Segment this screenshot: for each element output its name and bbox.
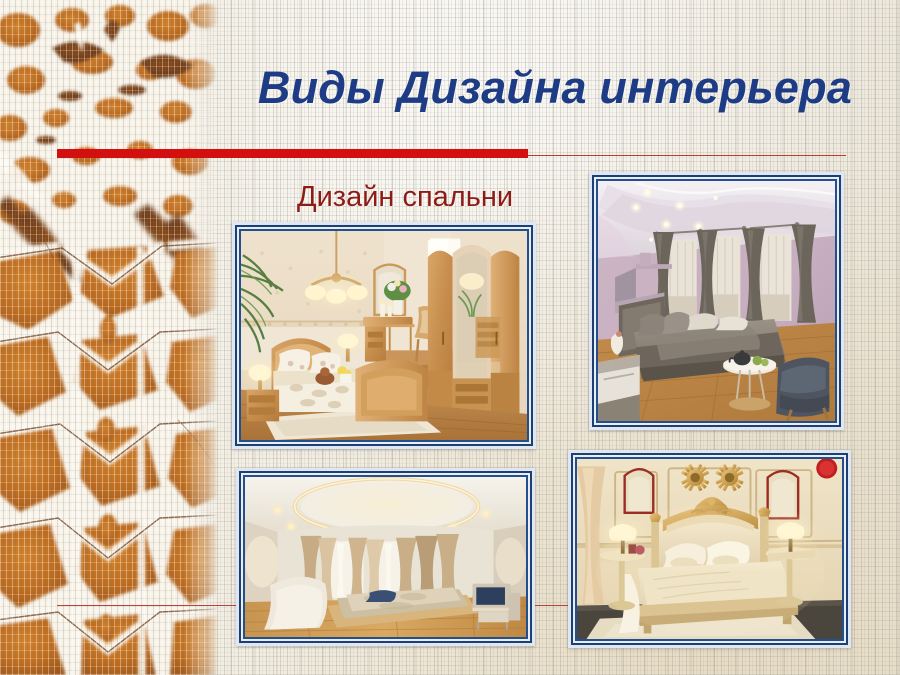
photo-frame-baroque-bedroom[interactable]: [568, 450, 851, 648]
slide-subtitle: Дизайн спальни: [240, 182, 570, 214]
photo-frame-classic-wooden-bedroom[interactable]: [232, 222, 536, 449]
presentation-slide: Виды Дизайна интерьера Дизайн спальни: [0, 0, 900, 675]
giraffe-pattern-band: [0, 0, 219, 675]
slide-title: Виды Дизайна интерьера: [240, 64, 870, 111]
photo-modern-lilac-bedroom: [598, 181, 835, 421]
giraffe-pattern-graphic: [0, 0, 219, 675]
photo-classic-wooden-bedroom: [241, 231, 527, 440]
photo-frame-modern-lilac-bedroom[interactable]: [589, 172, 844, 430]
photo-frame-minimalist-bedroom[interactable]: [236, 468, 535, 646]
photo-baroque-bedroom: [577, 459, 842, 639]
divider-accent-bar: [57, 149, 528, 158]
photo-minimalist-bedroom: [245, 477, 526, 637]
